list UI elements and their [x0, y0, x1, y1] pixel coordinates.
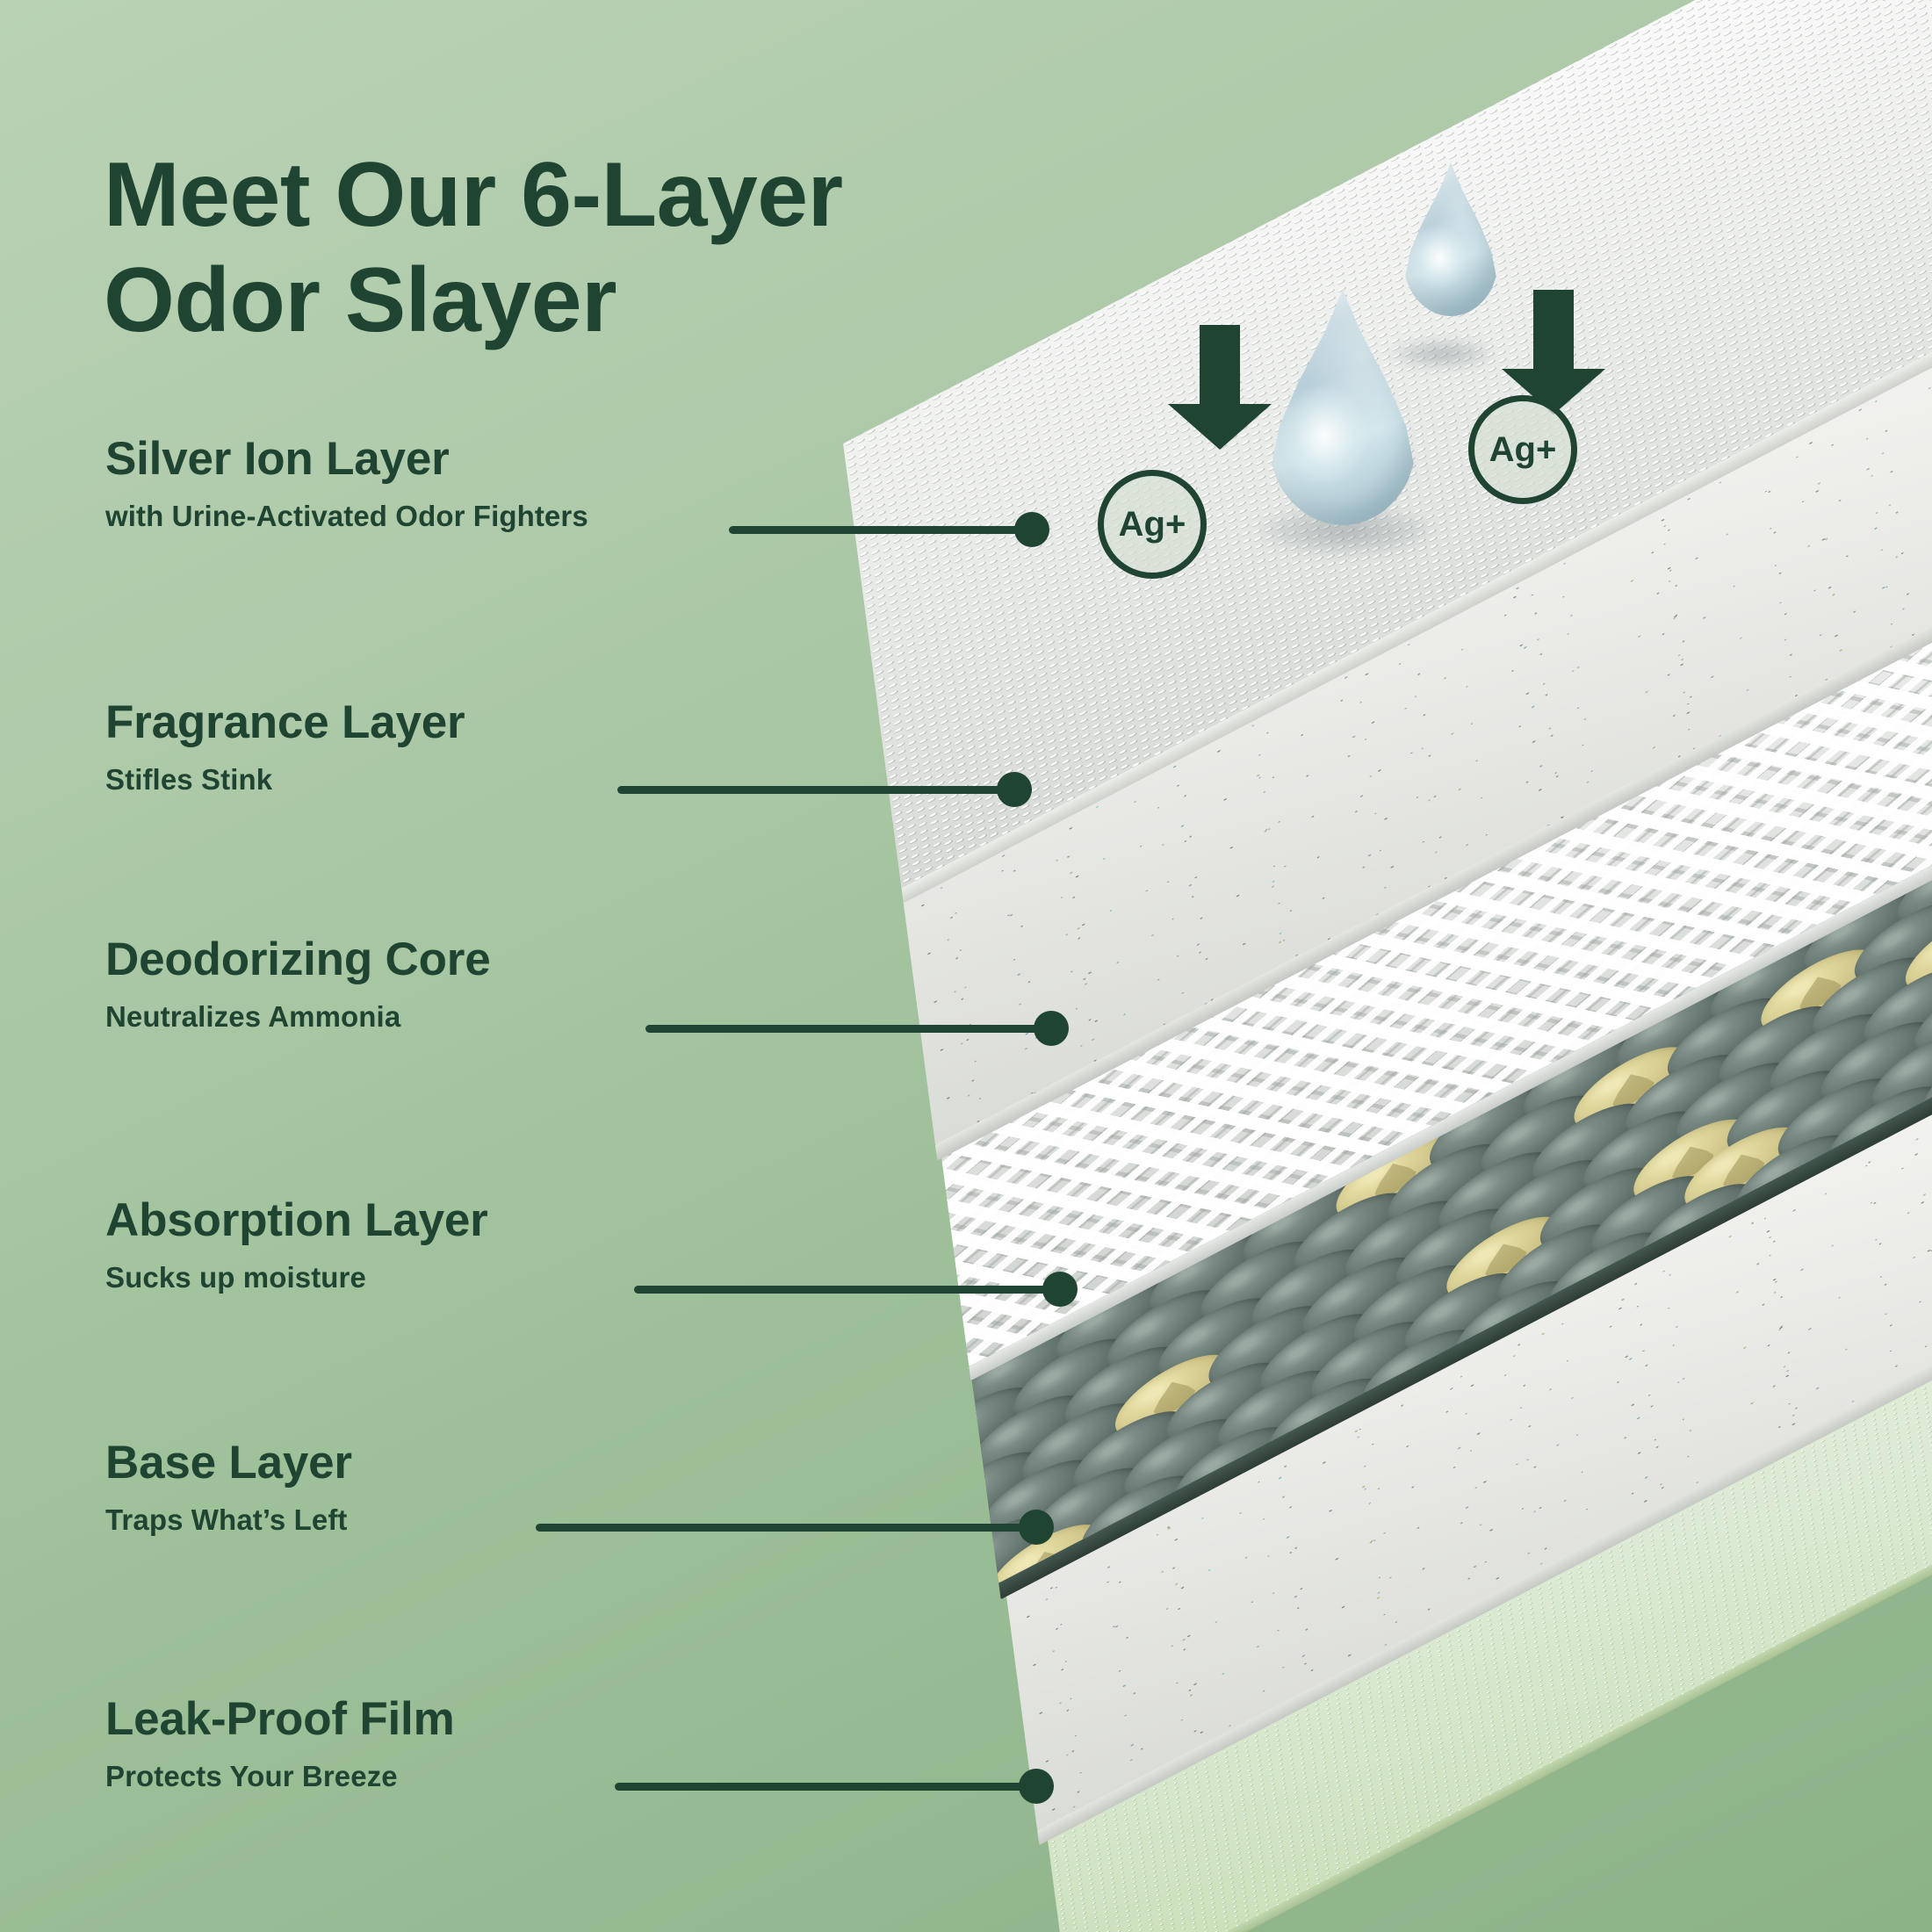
leader-line-leak-proof: [615, 1783, 1036, 1791]
layer-label-base: Base Layer Traps What’s Left: [105, 1438, 352, 1536]
layer-label-absorption: Absorption Layer Sucks up moisture: [105, 1196, 488, 1294]
leader-dot-deodorizing-core: [1034, 1011, 1069, 1046]
leader-line-absorption: [634, 1286, 1060, 1294]
leader-dot-leak-proof: [1019, 1769, 1054, 1804]
leader-dot-base: [1019, 1510, 1054, 1545]
page-title-line-1: Meet Our 6-Layer: [104, 142, 1157, 249]
leader-dot-fragrance: [997, 772, 1032, 807]
leader-dot-silver-ion: [1014, 512, 1049, 547]
layer-title: Deodorizing Core: [105, 935, 490, 984]
leader-dot-absorption: [1042, 1272, 1078, 1307]
layer-title: Silver Ion Layer: [105, 435, 588, 484]
layer-subtitle: Traps What’s Left: [105, 1504, 352, 1536]
layer-title: Absorption Layer: [105, 1196, 488, 1245]
layer-subtitle: Stifles Stink: [105, 764, 465, 796]
page-title-line-2: Odor Slayer: [104, 248, 1157, 354]
layer-title: Base Layer: [105, 1438, 352, 1488]
ag-plus-badge: Ag+: [1468, 395, 1577, 504]
layer-subtitle: Sucks up moisture: [105, 1262, 488, 1294]
leader-line-deodorizing-core: [645, 1025, 1051, 1033]
layer-subtitle: Neutralizes Ammonia: [105, 1001, 490, 1033]
layer-label-deodorizing-core: Deodorizing Core Neutralizes Ammonia: [105, 935, 490, 1033]
layer-label-leak-proof: Leak-Proof Film Protects Your Breeze: [105, 1695, 455, 1792]
layer-subtitle: with Urine-Activated Odor Fighters: [105, 501, 588, 532]
infographic-canvas: Ag+ Ag+ Meet Our 6-Layer Odor Slayer Sil…: [0, 0, 1932, 1932]
droplet-shadow: [1389, 338, 1495, 370]
down-arrow-icon: [1168, 325, 1272, 450]
leader-line-fragrance: [617, 786, 1032, 794]
layer-label-silver-ion: Silver Ion Layer with Urine-Activated Od…: [105, 435, 588, 532]
layer-title: Leak-Proof Film: [105, 1695, 455, 1744]
leader-line-silver-ion: [729, 526, 1032, 534]
page-title: Meet Our 6-Layer Odor Slayer: [104, 142, 1157, 354]
layer-subtitle: Protects Your Breeze: [105, 1761, 455, 1792]
ag-plus-badge-label: Ag+: [1489, 430, 1557, 470]
layer-title: Fragrance Layer: [105, 698, 465, 747]
leader-line-base: [536, 1524, 1036, 1532]
ag-plus-badge: Ag+: [1098, 470, 1207, 579]
layer-label-fragrance: Fragrance Layer Stifles Stink: [105, 698, 465, 796]
ag-plus-badge-label: Ag+: [1119, 505, 1186, 544]
